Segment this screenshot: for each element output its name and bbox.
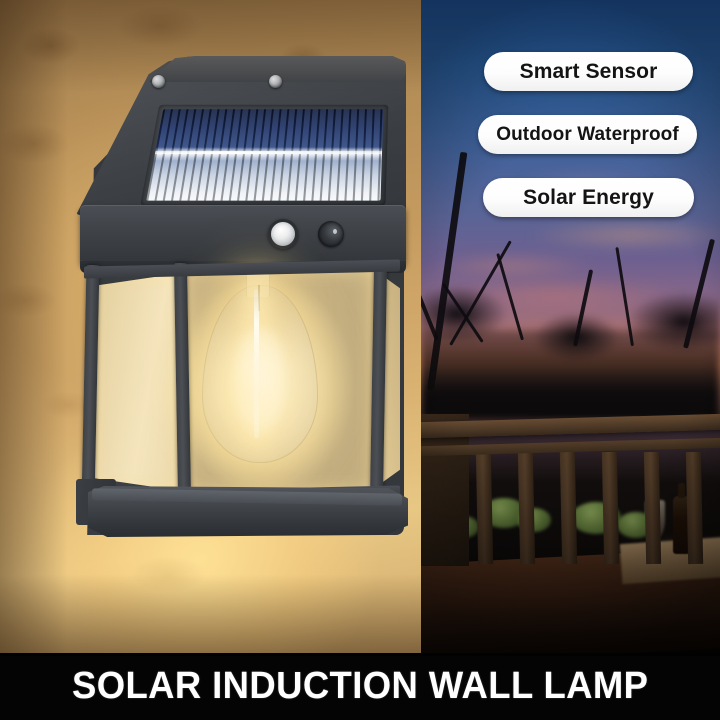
feature-badge-solar-energy[interactable]: Solar Energy <box>483 178 694 217</box>
feature-badge-label: Smart Sensor <box>520 60 658 84</box>
banner-top-edge <box>0 653 720 656</box>
product-title-banner: SOLAR INDUCTION WALL LAMP <box>0 653 720 720</box>
product-image: Smart Sensor Outdoor Waterproof Solar En… <box>0 0 720 720</box>
lamp-scene-panel <box>0 0 421 653</box>
wall-vignette <box>0 0 421 653</box>
feature-badge-smart-sensor[interactable]: Smart Sensor <box>484 52 693 91</box>
feature-badge-group: Smart Sensor Outdoor Waterproof Solar En… <box>421 0 720 240</box>
product-title: SOLAR INDUCTION WALL LAMP <box>72 665 648 708</box>
feature-badge-outdoor-waterproof[interactable]: Outdoor Waterproof <box>478 115 697 154</box>
feature-badge-label: Solar Energy <box>523 186 654 210</box>
feature-badge-label: Outdoor Waterproof <box>496 124 679 146</box>
